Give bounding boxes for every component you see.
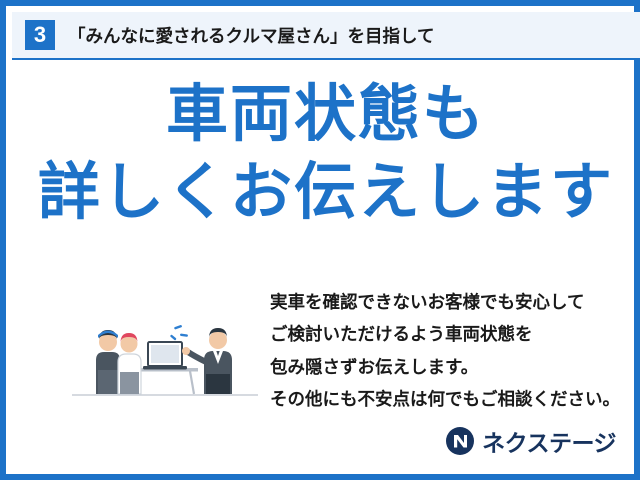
body-text-block: 実車を確認できないお客様でも安心して ご検討いただけるよう車両状態を 包み隠さず… bbox=[270, 286, 630, 416]
body-text-line: 実車を確認できないお客様でも安心して bbox=[270, 286, 630, 318]
body-text-line: 包み隠さずお伝えします。 bbox=[270, 351, 630, 383]
body-text-line: ご検討いただけるよう車両状態を bbox=[270, 318, 630, 350]
staff-and-customers-illustration bbox=[70, 282, 260, 402]
header-title: 「みんなに愛されるクルマ屋さん」を目指して bbox=[68, 23, 434, 48]
header-step-badge: 3 bbox=[25, 20, 55, 50]
body-text-line: その他にも不安点は何でもご相談ください。 bbox=[270, 383, 630, 415]
brand-name: ネクステージ bbox=[482, 424, 616, 458]
page-title: 車両状態も 詳しくお伝えします bbox=[12, 84, 640, 224]
n-mark-icon bbox=[445, 426, 475, 456]
header-bar: 3 「みんなに愛されるクルマ屋さん」を目指して bbox=[12, 12, 640, 60]
brand-footer: ネクステージ bbox=[445, 424, 616, 458]
headline-line-1: 車両状態も bbox=[12, 84, 640, 146]
body-section: 実車を確認できないお客様でも安心して ご検討いただけるよう車両状態を 包み隠さず… bbox=[12, 278, 640, 418]
headline-line-2: 詳しくお伝えします bbox=[12, 162, 640, 224]
slide-container: 3 「みんなに愛されるクルマ屋さん」を目指して 車両状態も 詳しくお伝えします bbox=[0, 0, 640, 480]
